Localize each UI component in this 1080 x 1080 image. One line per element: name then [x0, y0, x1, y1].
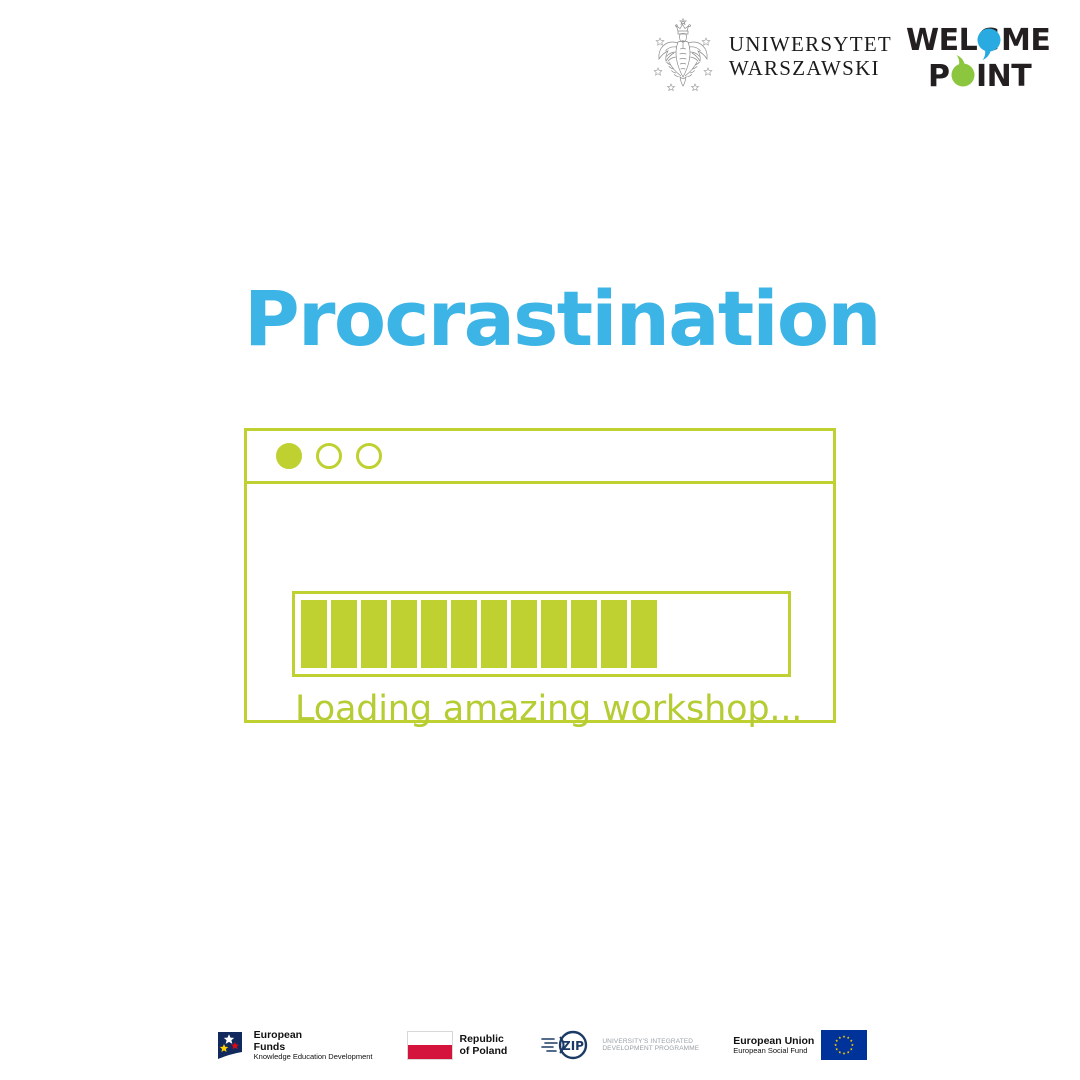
poland-flag-icon	[407, 1031, 453, 1060]
page-title: Procrastination	[244, 281, 844, 357]
european-union-caption: European Social Fund	[733, 1047, 814, 1056]
welcome-point-svg: WELC ME P INT	[906, 21, 1058, 93]
progress-segment	[481, 600, 507, 668]
republic-of-poland-title-line1: Republic	[460, 1033, 508, 1045]
european-funds-text: European Funds Knowledge Education Devel…	[254, 1029, 373, 1062]
zip-badge-label: ZIP	[562, 1039, 584, 1053]
window-dot-minimize-icon[interactable]	[316, 443, 342, 469]
progress-segment	[541, 600, 567, 668]
browser-window-mockup: Loading amazing workshop...	[244, 428, 836, 723]
european-union-text: European Union European Social Fund	[733, 1035, 814, 1056]
progress-segment	[421, 600, 447, 668]
footer-logo-european-funds: European Funds Knowledge Education Devel…	[213, 1029, 373, 1062]
footer-logo-republic-of-poland: Republic of Poland	[407, 1031, 508, 1060]
window-body: Loading amazing workshop...	[247, 484, 833, 720]
republic-of-poland-title-line2: of Poland	[460, 1045, 508, 1057]
zip-programme-text: UNIVERSITY'S INTEGRATED DEVELOPMENT PROG…	[602, 1038, 699, 1053]
university-wordmark-line2: WARSZAWSKI	[729, 57, 892, 81]
zip-caption-line2: DEVELOPMENT PROGRAMME	[602, 1045, 699, 1053]
progress-bar-fill	[301, 600, 657, 668]
progress-segment	[511, 600, 537, 668]
university-of-warsaw-logo: UNIWERSYTET WARSZAWSKI	[647, 18, 892, 96]
point-text-tail: INT	[976, 59, 1032, 93]
progress-segment	[571, 600, 597, 668]
green-circle-icon	[952, 55, 975, 87]
progress-segment	[631, 600, 657, 668]
republic-of-poland-text: Republic of Poland	[460, 1033, 508, 1057]
welcome-point-logo: WELC ME P INT	[906, 21, 1058, 93]
progress-segment	[301, 600, 327, 668]
european-funds-caption: Knowledge Education Development	[254, 1053, 373, 1062]
zip-badge-icon: ZIP	[541, 1030, 595, 1060]
footer-logo-strip: European Funds Knowledge Education Devel…	[0, 1029, 1080, 1062]
window-dot-maximize-icon[interactable]	[356, 443, 382, 469]
european-funds-title-line1: European	[254, 1029, 373, 1041]
welcome-text-tail: ME	[1001, 23, 1050, 58]
window-titlebar	[247, 431, 833, 484]
zip-caption-line1: UNIVERSITY'S INTEGRATED	[602, 1038, 699, 1046]
progress-segment	[361, 600, 387, 668]
uw-eagle-emblem-icon	[647, 18, 719, 96]
header-logo-bar: UNIWERSYTET WARSZAWSKI WELC ME P INT	[647, 18, 1058, 96]
progress-segment	[601, 600, 627, 668]
point-text: P	[928, 59, 950, 93]
university-wordmark-line1: UNIWERSYTET	[729, 33, 892, 57]
loading-status-text: Loading amazing workshop...	[295, 692, 802, 727]
eu-flag-icon	[821, 1030, 867, 1060]
footer-logo-european-union: European Union European Social Fund	[733, 1030, 867, 1060]
progress-segment	[391, 600, 417, 668]
european-funds-icon	[213, 1030, 247, 1061]
progress-bar	[292, 591, 791, 677]
footer-logo-zip-programme: ZIP UNIVERSITY'S INTEGRATED DEVELOPMENT …	[541, 1030, 699, 1060]
progress-segment	[451, 600, 477, 668]
university-wordmark: UNIWERSYTET WARSZAWSKI	[729, 33, 892, 81]
window-dot-close-icon[interactable]	[276, 443, 302, 469]
progress-segment	[331, 600, 357, 668]
